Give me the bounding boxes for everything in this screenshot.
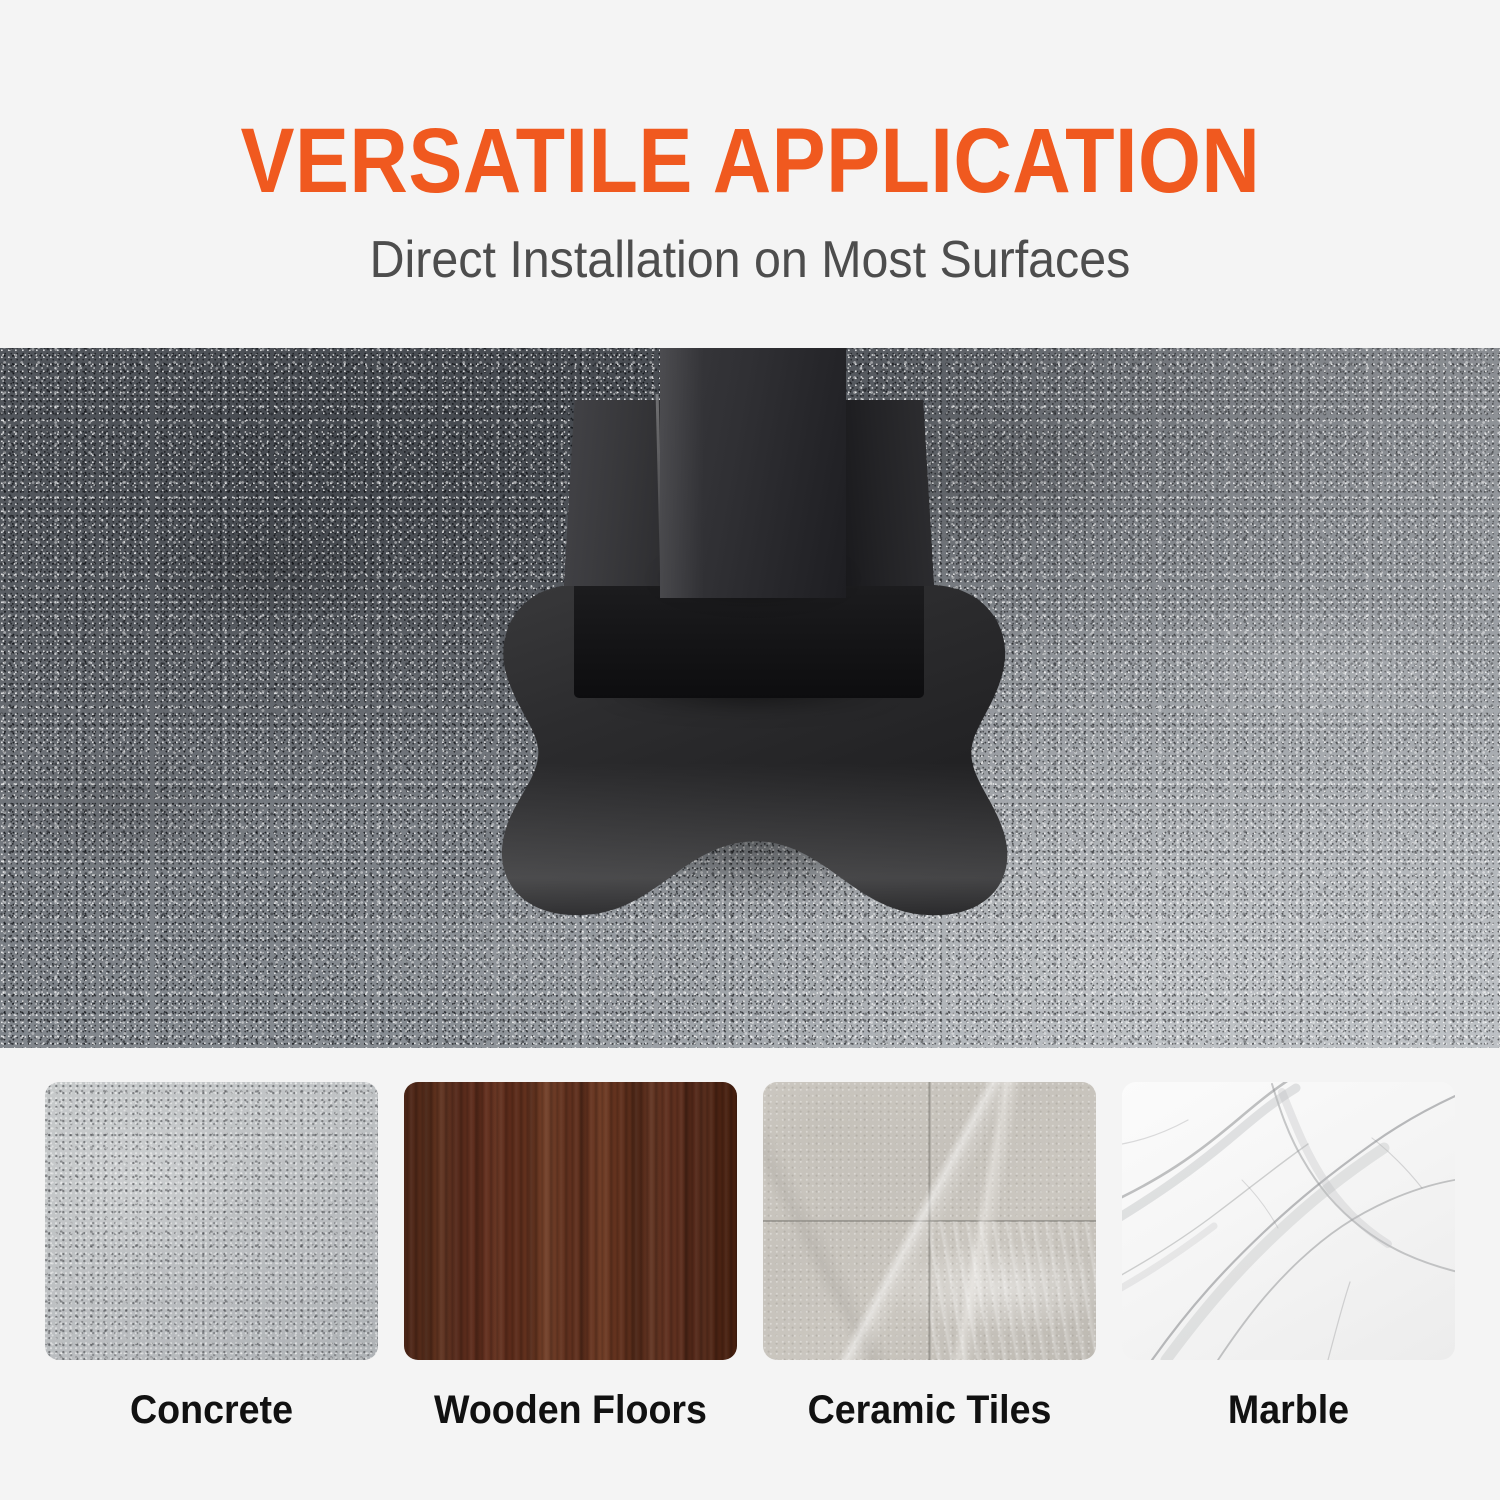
label-ceramic-tiles: Ceramic Tiles — [773, 1388, 1086, 1458]
surface-swatch-section: Concrete Wooden Floors Ceramic Tiles Mar… — [0, 1048, 1500, 1500]
surface-swatch-list — [45, 1082, 1455, 1360]
surface-label-list: Concrete Wooden Floors Ceramic Tiles Mar… — [45, 1388, 1455, 1458]
hero-product-photo — [0, 348, 1500, 1048]
product-feature-page: VERSATILE APPLICATION Direct Installatio… — [0, 0, 1500, 1500]
table-base-assembly — [468, 348, 1038, 948]
tile-vein-overlay-2 — [930, 1221, 1097, 1360]
page-subtitle: Direct Installation on Most Surfaces — [370, 233, 1131, 288]
marble-vein-pattern — [1122, 1082, 1455, 1360]
label-marble: Marble — [1132, 1388, 1445, 1458]
swatch-marble[interactable] — [1122, 1082, 1455, 1360]
label-concrete: Concrete — [55, 1388, 368, 1458]
column-edge-highlight — [660, 348, 704, 598]
swatch-wooden-floors[interactable] — [404, 1082, 737, 1360]
page-title: VERSATILE APPLICATION — [240, 118, 1260, 205]
swatch-concrete[interactable] — [45, 1082, 378, 1360]
header-banner: VERSATILE APPLICATION Direct Installatio… — [0, 0, 1500, 348]
swatch-ceramic-tiles[interactable] — [763, 1082, 1096, 1360]
label-wooden-floors: Wooden Floors — [414, 1388, 727, 1458]
